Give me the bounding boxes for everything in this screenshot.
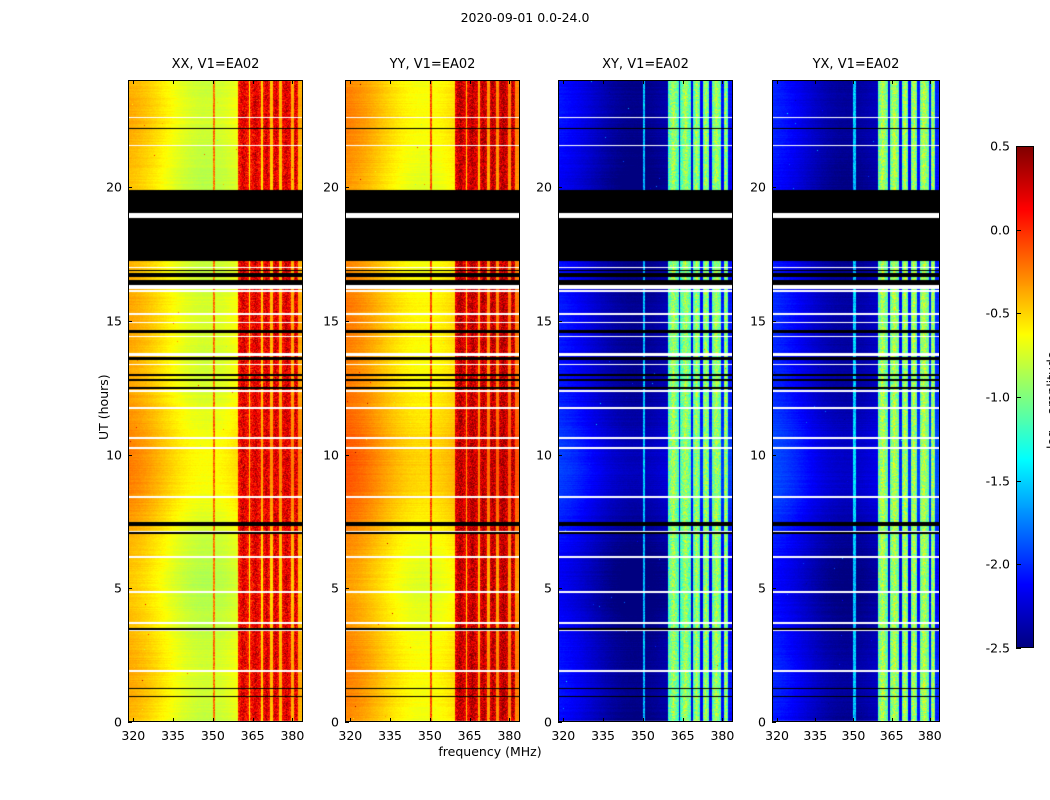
x-axis-label: frequency (MHz) [380, 744, 600, 759]
x-tick-label: 350 [842, 728, 866, 743]
y-tick-mark [558, 722, 562, 723]
y-tick-mark [128, 187, 132, 188]
x-tick-mark [292, 718, 293, 722]
x-tick-label: 380 [497, 728, 521, 743]
x-tick-label: 365 [671, 728, 695, 743]
y-tick-mark [772, 455, 776, 456]
y-tick-label: 5 [98, 581, 122, 596]
colorbar-tick-mark [1016, 648, 1021, 649]
waterfall-panel-yx: YX, V1=EA02 [772, 80, 940, 722]
y-tick-label: 10 [528, 447, 552, 462]
colorbar-tick-mark [1016, 313, 1021, 314]
x-tick-mark [815, 80, 816, 84]
x-tick-mark [430, 80, 431, 84]
x-tick-mark [292, 80, 293, 84]
x-tick-mark [390, 718, 391, 722]
x-tick-label: 320 [765, 728, 789, 743]
x-tick-mark [930, 718, 931, 722]
figure-canvas: 2020-09-01 0.0-24.0 XX, V1=EA02YY, V1=EA… [0, 0, 1050, 800]
y-tick-mark [128, 722, 132, 723]
y-tick-mark [128, 588, 132, 589]
panel-frame-yx [772, 80, 940, 722]
y-tick-label: 10 [315, 447, 339, 462]
x-tick-label: 335 [803, 728, 827, 743]
y-tick-label: 15 [98, 313, 122, 328]
colorbar-tick-mark [1016, 564, 1021, 565]
y-tick-mark [345, 455, 349, 456]
colorbar-label-prefix: log [1044, 430, 1050, 449]
x-tick-label: 380 [280, 728, 304, 743]
colorbar-tick-mark [1016, 146, 1021, 147]
x-tick-mark [133, 80, 134, 84]
y-tick-label: 0 [742, 715, 766, 730]
x-tick-mark [892, 718, 893, 722]
x-tick-mark [350, 718, 351, 722]
x-tick-mark [133, 718, 134, 722]
x-tick-mark [815, 718, 816, 722]
colorbar-tick-label: -2.0 [970, 557, 1010, 572]
x-tick-mark [603, 718, 604, 722]
x-tick-mark [643, 80, 644, 84]
x-tick-label: 380 [918, 728, 942, 743]
x-tick-mark [253, 80, 254, 84]
y-tick-label: 20 [742, 180, 766, 195]
y-tick-label: 15 [528, 313, 552, 328]
colorbar-axis-label: log10 amplitude [1044, 351, 1050, 449]
x-tick-mark [722, 80, 723, 84]
y-tick-mark [772, 588, 776, 589]
x-tick-mark [777, 718, 778, 722]
x-tick-mark [430, 718, 431, 722]
y-tick-mark [345, 187, 349, 188]
x-tick-mark [853, 718, 854, 722]
y-tick-label: 5 [528, 581, 552, 596]
x-tick-mark [853, 80, 854, 84]
x-tick-mark [173, 80, 174, 84]
y-tick-mark [558, 321, 562, 322]
colorbar-tick-label: -1.0 [970, 390, 1010, 405]
y-tick-mark [772, 722, 776, 723]
y-tick-mark [345, 588, 349, 589]
y-tick-label: 5 [315, 581, 339, 596]
x-tick-mark [563, 80, 564, 84]
x-tick-label: 320 [121, 728, 145, 743]
panel-frame-yy [345, 80, 520, 722]
y-tick-mark [558, 187, 562, 188]
x-tick-mark [892, 80, 893, 84]
x-tick-mark [213, 80, 214, 84]
x-tick-label: 320 [551, 728, 575, 743]
x-tick-label: 350 [631, 728, 655, 743]
panel-title-yx: YX, V1=EA02 [772, 57, 940, 72]
x-tick-mark [470, 718, 471, 722]
x-tick-label: 365 [880, 728, 904, 743]
x-tick-mark [213, 718, 214, 722]
y-tick-label: 20 [98, 180, 122, 195]
x-tick-mark [930, 80, 931, 84]
x-tick-mark [470, 80, 471, 84]
x-tick-label: 320 [338, 728, 362, 743]
y-tick-label: 0 [315, 715, 339, 730]
y-tick-mark [345, 321, 349, 322]
x-tick-label: 335 [591, 728, 615, 743]
panel-title-xy: XY, V1=EA02 [558, 57, 733, 72]
x-tick-label: 350 [201, 728, 225, 743]
y-tick-label: 0 [528, 715, 552, 730]
x-tick-label: 380 [710, 728, 734, 743]
x-tick-label: 350 [418, 728, 442, 743]
figure-suptitle: 2020-09-01 0.0-24.0 [0, 10, 1050, 25]
colorbar-tick-mark [1016, 230, 1021, 231]
y-tick-label: 10 [98, 447, 122, 462]
y-tick-mark [558, 455, 562, 456]
x-tick-label: 365 [458, 728, 482, 743]
colorbar-tick-label: 0.0 [970, 222, 1010, 237]
colorbar-tick-mark [1016, 397, 1021, 398]
panel-frame-xx [128, 80, 303, 722]
waterfall-panel-xx: XX, V1=EA02 [128, 80, 303, 722]
x-tick-mark [603, 80, 604, 84]
x-tick-mark [350, 80, 351, 84]
y-tick-label: 20 [315, 180, 339, 195]
x-tick-label: 335 [378, 728, 402, 743]
waterfall-panel-yy: YY, V1=EA02 [345, 80, 520, 722]
y-tick-label: 10 [742, 447, 766, 462]
x-tick-label: 365 [241, 728, 265, 743]
y-tick-label: 15 [315, 313, 339, 328]
x-tick-mark [683, 80, 684, 84]
y-tick-mark [558, 588, 562, 589]
x-tick-mark [173, 718, 174, 722]
x-tick-mark [509, 718, 510, 722]
y-tick-mark [345, 722, 349, 723]
x-tick-mark [253, 718, 254, 722]
y-tick-mark [772, 321, 776, 322]
colorbar-tick-label: -0.5 [970, 306, 1010, 321]
colorbar-tick-label: -2.5 [970, 641, 1010, 656]
y-tick-mark [128, 455, 132, 456]
x-tick-mark [777, 80, 778, 84]
x-tick-mark [643, 718, 644, 722]
y-tick-label: 0 [98, 715, 122, 730]
x-tick-label: 335 [161, 728, 185, 743]
colorbar-tick-label: 0.5 [970, 139, 1010, 154]
panel-title-xx: XX, V1=EA02 [128, 57, 303, 72]
x-tick-mark [390, 80, 391, 84]
x-tick-mark [509, 80, 510, 84]
x-tick-mark [722, 718, 723, 722]
y-tick-mark [772, 187, 776, 188]
x-tick-mark [683, 718, 684, 722]
colorbar-tick-label: -1.5 [970, 473, 1010, 488]
y-tick-label: 15 [742, 313, 766, 328]
panel-frame-xy [558, 80, 733, 722]
y-tick-label: 20 [528, 180, 552, 195]
panel-title-yy: YY, V1=EA02 [345, 57, 520, 72]
x-tick-mark [563, 718, 564, 722]
waterfall-panel-xy: XY, V1=EA02 [558, 80, 733, 722]
colorbar-label-suffix: amplitude [1044, 351, 1050, 418]
y-tick-label: 5 [742, 581, 766, 596]
y-tick-mark [128, 321, 132, 322]
colorbar-tick-mark [1016, 481, 1021, 482]
y-axis-label: UT (hours) [96, 374, 111, 440]
